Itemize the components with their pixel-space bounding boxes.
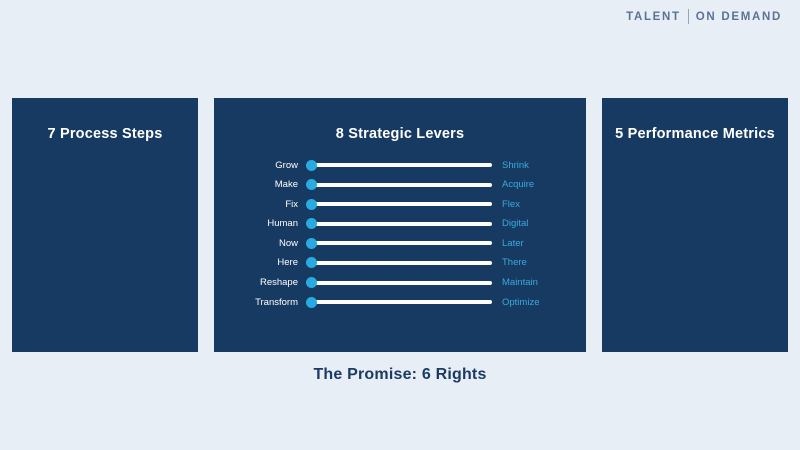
lever-label-right: Maintain: [492, 277, 568, 288]
brand-logo-right-text: ON DEMAND: [696, 11, 782, 23]
lever-row: Make Acquire: [232, 178, 568, 192]
lever-handle[interactable]: [306, 179, 317, 190]
talent-on-demand-logo: TALENT ON DEMAND: [626, 9, 782, 24]
lever-handle[interactable]: [306, 297, 317, 308]
lever-label-right: Flex: [492, 199, 568, 210]
lever-label-left: Fix: [232, 199, 306, 210]
lever-row: Reshape Maintain: [232, 276, 568, 290]
panel-row: 7 Process Steps 8 Strategic Levers Grow …: [12, 98, 788, 352]
lever-slider[interactable]: [306, 197, 492, 211]
lever-label-right: Optimize: [492, 297, 568, 308]
lever-label-left: Now: [232, 238, 306, 249]
lever-label-left: Transform: [232, 297, 306, 308]
promise-caption: The Promise: 6 Rights: [0, 366, 800, 384]
lever-handle[interactable]: [306, 218, 317, 229]
brand-logo-left-text: TALENT: [626, 11, 681, 23]
lever-handle[interactable]: [306, 160, 317, 171]
lever-handle[interactable]: [306, 277, 317, 288]
lever-label-left: Make: [232, 179, 306, 190]
lever-slider[interactable]: [306, 295, 492, 309]
lever-list: Grow Shrink Make Acquire Fix: [214, 158, 586, 309]
lever-label-left: Here: [232, 257, 306, 268]
panel-process-steps-title: 7 Process Steps: [12, 126, 198, 142]
panel-process-steps: 7 Process Steps: [12, 98, 198, 352]
lever-row: Human Digital: [232, 217, 568, 231]
lever-row: Transform Optimize: [232, 295, 568, 309]
lever-label-right: There: [492, 257, 568, 268]
lever-track: [311, 281, 492, 285]
lever-handle[interactable]: [306, 257, 317, 268]
panel-strategic-levers: 8 Strategic Levers Grow Shrink Make Acqu…: [214, 98, 586, 352]
lever-handle[interactable]: [306, 199, 317, 210]
lever-slider[interactable]: [306, 236, 492, 250]
lever-track: [311, 202, 492, 206]
lever-label-left: Grow: [232, 160, 306, 171]
lever-slider[interactable]: [306, 158, 492, 172]
lever-track: [311, 300, 492, 304]
panel-strategic-levers-title: 8 Strategic Levers: [214, 126, 586, 142]
lever-row: Grow Shrink: [232, 158, 568, 172]
brand-header: TALENT ON DEMAND: [0, 0, 800, 40]
brand-logo-divider: [688, 9, 689, 24]
panel-performance-metrics-title: 5 Performance Metrics: [602, 126, 788, 142]
lever-label-right: Shrink: [492, 160, 568, 171]
lever-label-left: Human: [232, 218, 306, 229]
lever-handle[interactable]: [306, 238, 317, 249]
lever-label-right: Digital: [492, 218, 568, 229]
lever-slider[interactable]: [306, 276, 492, 290]
panel-performance-metrics: 5 Performance Metrics: [602, 98, 788, 352]
lever-slider[interactable]: [306, 217, 492, 231]
lever-label-right: Acquire: [492, 179, 568, 190]
lever-track: [311, 163, 492, 167]
lever-track: [311, 183, 492, 187]
lever-label-right: Later: [492, 238, 568, 249]
lever-track: [311, 261, 492, 265]
lever-row: Fix Flex: [232, 197, 568, 211]
lever-row: Here There: [232, 256, 568, 270]
lever-slider[interactable]: [306, 256, 492, 270]
lever-track: [311, 241, 492, 245]
lever-track: [311, 222, 492, 226]
lever-label-left: Reshape: [232, 277, 306, 288]
lever-row: Now Later: [232, 236, 568, 250]
lever-slider[interactable]: [306, 178, 492, 192]
